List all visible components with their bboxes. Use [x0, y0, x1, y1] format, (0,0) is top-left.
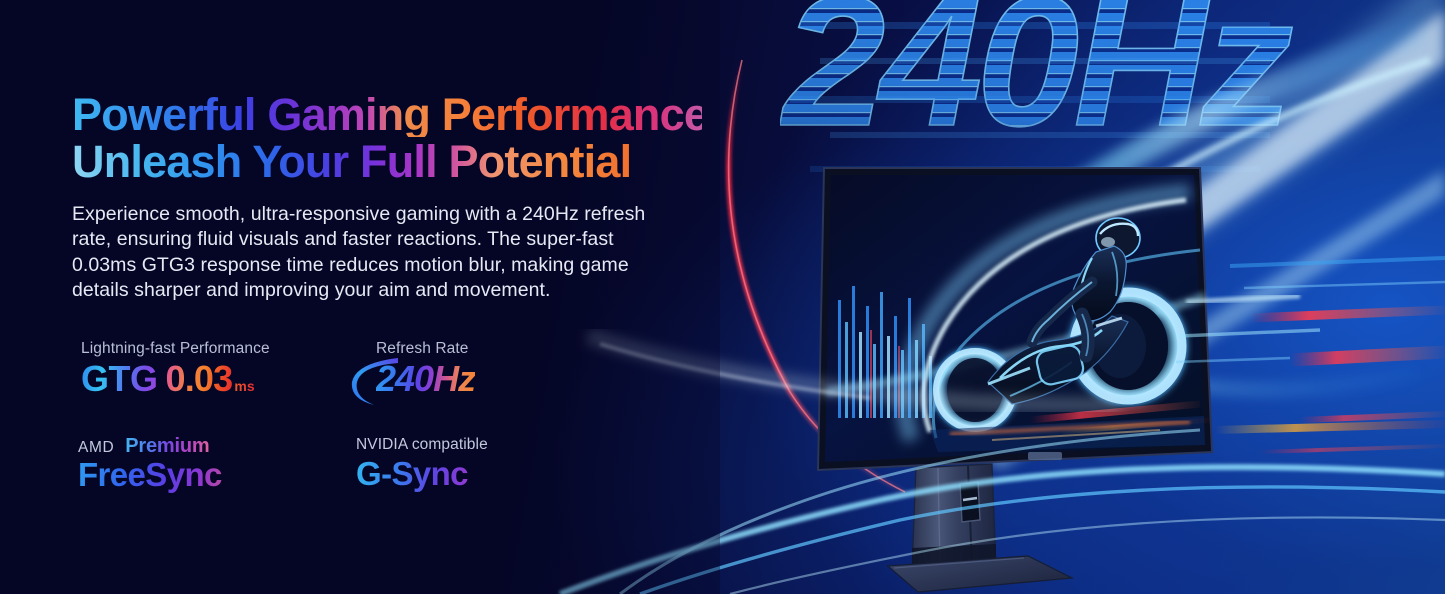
red-light-arc — [729, 60, 905, 492]
scanline-bands — [790, 22, 1270, 172]
product-banner: 240Hz — [0, 0, 1445, 594]
monitor-stand-pillar — [912, 464, 996, 570]
page-title: Powerful Gaming Performance Unleash Your… — [72, 92, 702, 184]
gtg-unit: ms — [234, 379, 254, 393]
feature-response-time-value: GTG 0.03 ms — [81, 361, 342, 397]
monitor-bezel — [818, 168, 1212, 470]
bike-chassis — [988, 316, 1128, 404]
neon-lightcycle — [930, 218, 1320, 435]
screen-light-trails — [826, 192, 1205, 440]
freesync-top-line: AMD Premium — [78, 436, 342, 456]
gaming-monitor — [818, 168, 1320, 592]
monitor-brand-mark — [1028, 452, 1062, 460]
feature-row-bottom: AMD Premium FreeSync NVIDIA compatible G… — [72, 436, 632, 493]
bike-motion-streaks — [1030, 296, 1320, 432]
cyan-swoosh-group — [880, 30, 1430, 448]
feature-freesync: AMD Premium FreeSync — [72, 436, 342, 493]
front-wheel-glow — [930, 345, 1020, 435]
monitor-stand-base — [888, 556, 1072, 592]
screen-skyline — [838, 286, 932, 418]
refresh-rate-number: 240Hz — [376, 361, 475, 397]
headline-line-2: Unleash Your Full Potential — [72, 139, 702, 184]
feature-gsync: NVIDIA compatible G-Sync — [342, 436, 572, 493]
backdrop-240hz-type: 240Hz — [780, 0, 1293, 165]
stand-cable-cutout — [960, 482, 980, 522]
feature-response-time-label: Lightning-fast Performance — [81, 340, 342, 358]
feature-refresh-rate: Refresh Rate 240Hz — [342, 340, 572, 436]
right-edge-speed-streaks — [1215, 258, 1445, 452]
gsync-wordmark: G-Sync — [356, 456, 572, 492]
freesync-tier-label: Premium — [125, 436, 209, 456]
svg-text:240Hz: 240Hz — [780, 0, 1293, 165]
bike-rider — [1032, 218, 1140, 356]
gtg-prefix: GTG — [81, 361, 158, 397]
body-copy: Experience smooth, ultra-responsive gami… — [72, 202, 664, 303]
floor-light-trails — [560, 336, 1445, 594]
feature-response-time: Lightning-fast Performance GTG 0.03 ms — [72, 340, 342, 436]
nvidia-compatible-label: NVIDIA compatible — [356, 436, 572, 454]
monitor-screen — [825, 175, 1205, 462]
feature-row-top: Lightning-fast Performance GTG 0.03 ms R… — [72, 340, 632, 436]
amd-brand-label: AMD — [78, 440, 114, 456]
screen-bottom-glow — [930, 416, 1205, 452]
gtg-number: 0.03 — [166, 361, 233, 397]
feature-badge-grid: Lightning-fast Performance GTG 0.03 ms R… — [72, 340, 632, 493]
feature-refresh-rate-value: 240Hz — [376, 361, 572, 407]
freesync-wordmark: FreeSync — [78, 457, 342, 493]
headline-line-1: Powerful Gaming Performance — [72, 92, 702, 137]
diagonal-light-beam — [852, 0, 1445, 470]
banner-copy-block: Powerful Gaming Performance Unleash Your… — [72, 92, 702, 303]
rear-wheel-glow — [1066, 284, 1190, 408]
